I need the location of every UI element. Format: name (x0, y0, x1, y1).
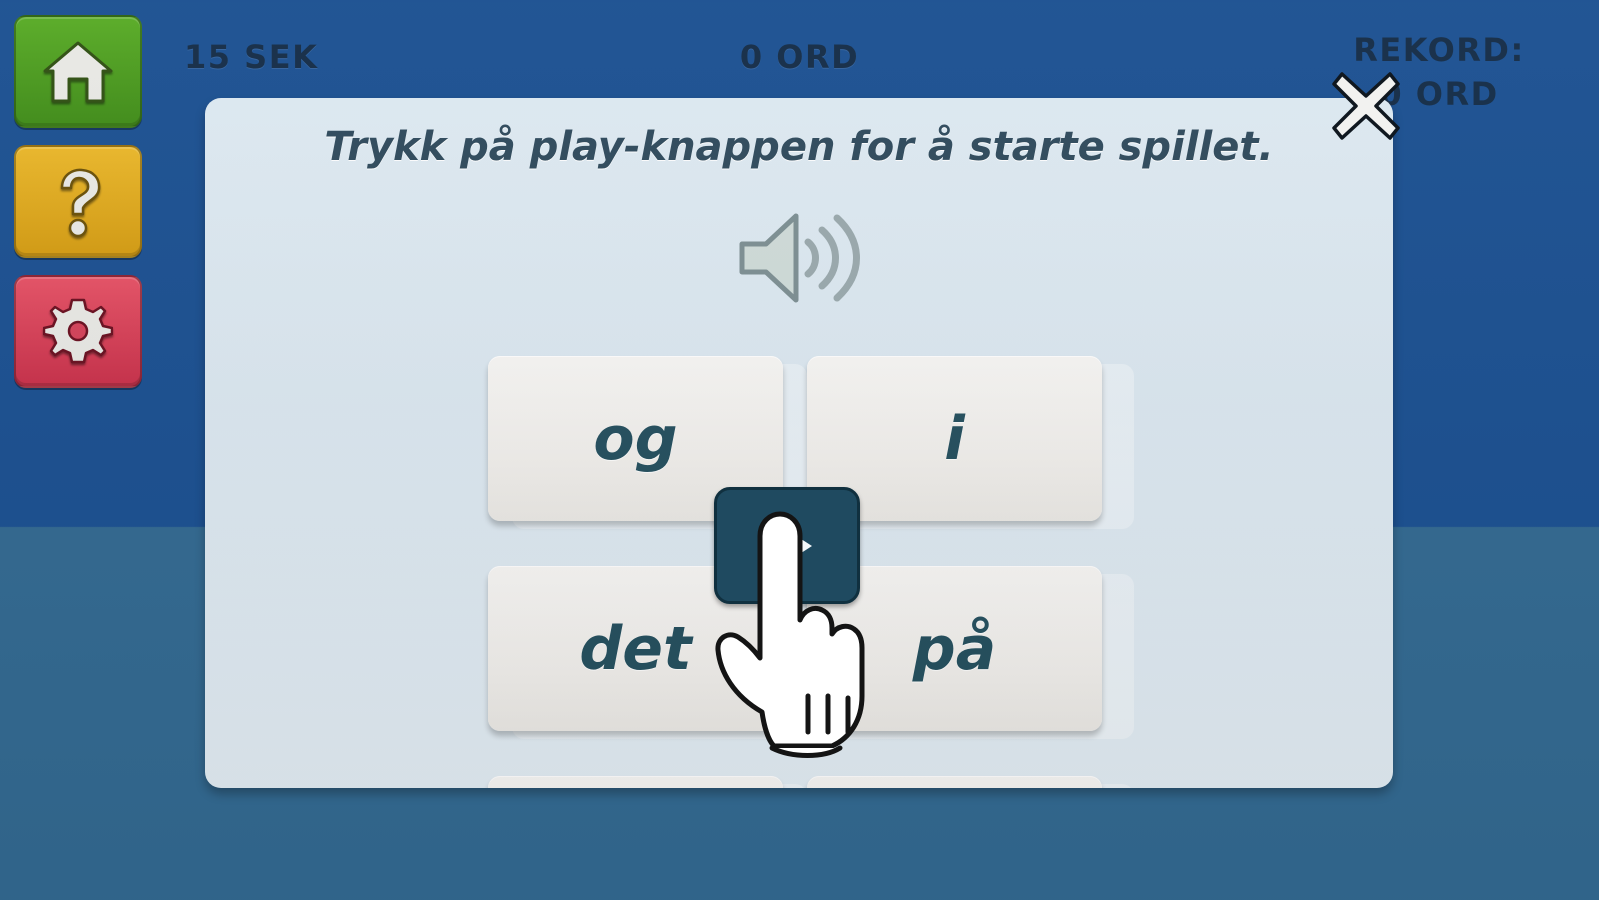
play-button[interactable] (714, 487, 860, 604)
sidebar-item-settings[interactable] (14, 275, 142, 388)
sidebar-item-help[interactable] (14, 145, 142, 258)
close-button[interactable] (1322, 62, 1410, 150)
speaker-icon (724, 303, 874, 322)
word-tile[interactable] (807, 776, 1102, 788)
word-tile-label: og (593, 404, 677, 474)
word-tile[interactable] (488, 776, 783, 788)
game-stage: 15 SEK 0 ORD REKORD: 0 ORD Trykk på play… (0, 0, 1599, 900)
speaker-button[interactable] (724, 198, 874, 318)
word-row-3 (488, 776, 1102, 788)
game-panel: Trykk på play-knappen for å starte spill… (205, 98, 1393, 788)
instruction-text: Trykk på play-knappen for å starte spill… (205, 124, 1393, 170)
question-icon (52, 166, 104, 238)
gear-icon (43, 297, 113, 367)
word-tile-label: det (579, 614, 691, 684)
word-tile-label: i (944, 404, 965, 474)
close-icon (1322, 135, 1410, 154)
word-tile-label: på (913, 614, 996, 684)
play-icon (756, 515, 818, 577)
